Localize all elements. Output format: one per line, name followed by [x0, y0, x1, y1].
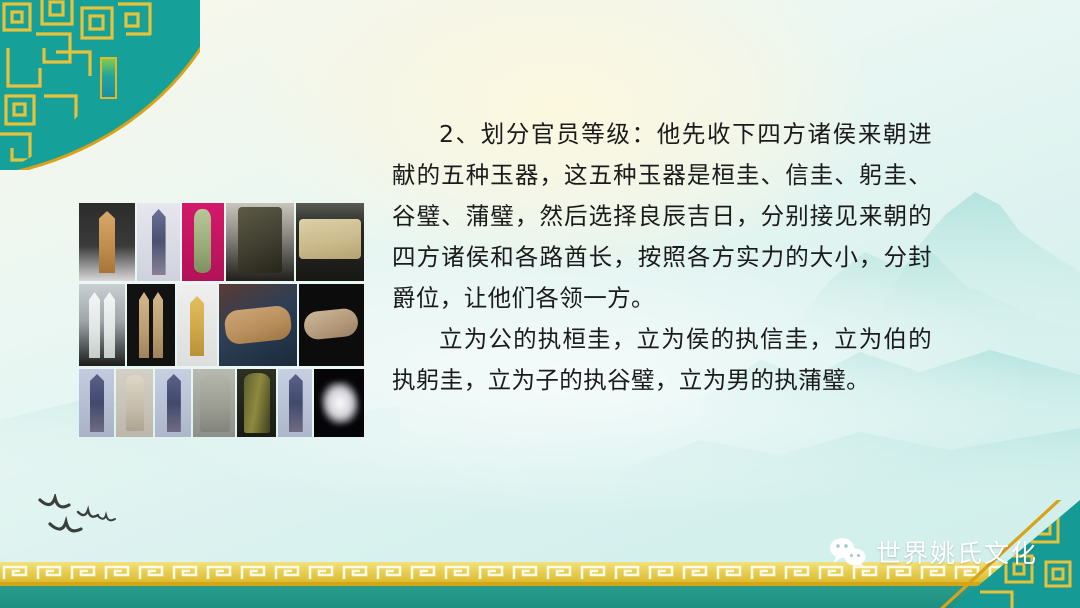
collage-row	[79, 284, 364, 366]
jade-gui-pink-background	[182, 203, 224, 281]
jade-blue-gui-left	[79, 369, 114, 437]
collage-row	[79, 203, 364, 281]
jade-tan-pair-gui-dark	[127, 284, 175, 366]
jade-gui-blue-obelisk	[137, 203, 181, 281]
jade-dark-stone-slab	[226, 203, 294, 281]
jade-inscribed-tablet	[296, 203, 365, 281]
jade-pale-cylinder	[116, 369, 152, 437]
main-text-block: 2、划分官员等级：他先收下四方诸侯来朝进献的五种玉器，这五种玉器是桓圭、信圭、躬…	[392, 114, 932, 401]
jade-bi-disc-large-inscribed	[219, 284, 297, 366]
jade-amber-obelisk	[177, 284, 217, 366]
jade-blue-gui-mid	[155, 369, 191, 437]
jade-white-pair-gui	[79, 284, 125, 366]
paragraph-official-ranks: 2、划分官员等级：他先收下四方诸侯来朝进献的五种玉器，这五种玉器是桓圭、信圭、躬…	[392, 114, 932, 319]
jade-tablet-dark-background	[299, 284, 364, 366]
slide-canvas: 2、划分官员等级：他先收下四方诸侯来朝进献的五种玉器，这五种玉器是桓圭、信圭、躬…	[0, 0, 1080, 608]
jade-gui-tablet-carved	[79, 203, 135, 281]
jade-dark-green-blade	[237, 369, 275, 437]
jade-stone-pillar-carved	[193, 369, 235, 437]
accent-bar	[100, 57, 117, 99]
jade-blue-gui-right	[278, 369, 312, 437]
collage-row	[79, 369, 364, 437]
jade-artifacts-collage	[79, 203, 364, 445]
jade-white-glow-dark	[314, 369, 364, 437]
paragraph-rank-jade-mapping: 立为公的执桓圭，立为侯的执信圭，立为伯的执躬圭，立为子的执谷璧，立为男的执蒲璧。	[392, 319, 932, 401]
